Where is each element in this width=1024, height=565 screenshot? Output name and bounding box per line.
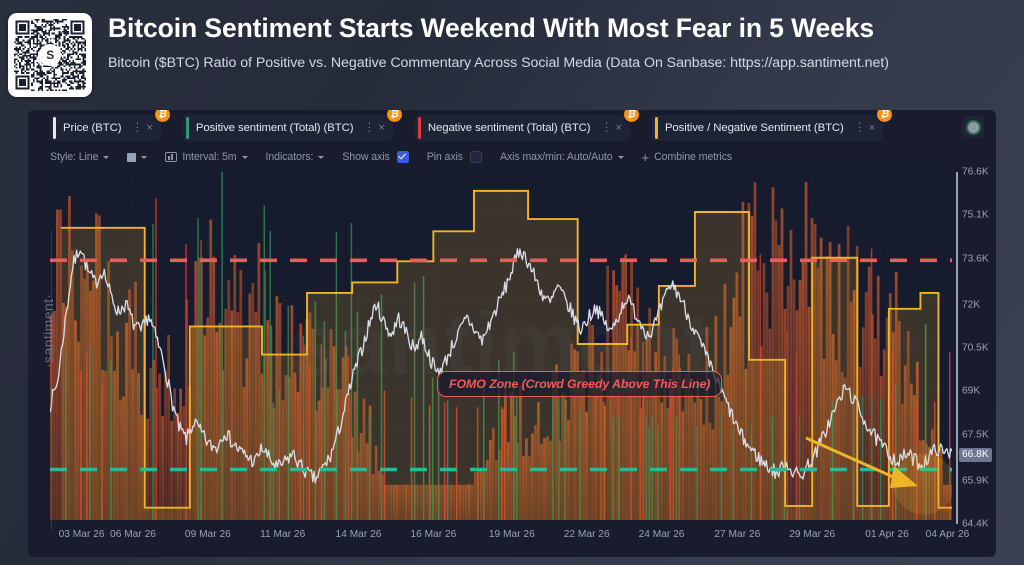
x-axis-tick: 16 Mar 26 bbox=[410, 529, 456, 540]
x-axis-tick: 09 Mar 26 bbox=[185, 529, 231, 540]
metric-color-bar bbox=[186, 117, 189, 139]
metric-tab-label: Price (BTC) bbox=[63, 122, 121, 134]
x-axis-tick: 11 Mar 26 bbox=[260, 529, 305, 540]
y-axis-tick: 70.5K bbox=[962, 343, 989, 354]
metric-tab-label: Positive sentiment (Total) (BTC) bbox=[196, 122, 354, 134]
x-axis-tick: 03 Mar 26 bbox=[59, 529, 105, 540]
bitcoin-icon: ₿ bbox=[624, 110, 639, 122]
interval-label: Interval: 5m bbox=[182, 151, 236, 163]
y-axis-tick: 75.1K bbox=[962, 210, 989, 221]
y-axis-tick: 65.9K bbox=[962, 475, 989, 486]
fomo-zone-annotation: FOMO Zone (Crowd Greedy Above This Line) bbox=[437, 371, 722, 397]
y-axis-tick: 76.6K bbox=[962, 167, 989, 178]
metric-tab-positive-sentiment[interactable]: Positive sentiment (Total) (BTC) ⋮ × ₿ bbox=[183, 115, 393, 141]
plot-canvas[interactable]: santiment bbox=[50, 168, 952, 520]
x-axis-tick: 29 Mar 26 bbox=[789, 529, 835, 540]
chart-controls-bar: Style: Line Interval: 5m Indicators: Sho… bbox=[28, 146, 996, 168]
axis-minmax-label: Axis max/min: Auto/Auto bbox=[500, 151, 613, 163]
y-axis-tick: 64.4K bbox=[962, 519, 989, 530]
metric-menu-icon[interactable]: ⋮ bbox=[131, 124, 137, 131]
recording-status-dot[interactable] bbox=[962, 116, 984, 138]
metric-tab-label: Negative sentiment (Total) (BTC) bbox=[428, 122, 591, 134]
combine-metrics-label: Combine metrics bbox=[654, 151, 732, 163]
bitcoin-icon: ₿ bbox=[155, 110, 170, 122]
page-subtitle: Bitcoin ($BTC) Ratio of Positive vs. Neg… bbox=[108, 55, 1010, 71]
x-axis-tick: 19 Mar 26 bbox=[489, 529, 535, 540]
x-axis-tick: 06 Mar 26 bbox=[110, 529, 156, 540]
qr-center-logo: S bbox=[39, 44, 61, 66]
style-dropdown[interactable]: Style: Line bbox=[50, 151, 109, 163]
metric-menu-icon[interactable]: ⋮ bbox=[363, 124, 369, 131]
show-axis-label: Show axis bbox=[342, 151, 389, 163]
color-picker-dropdown[interactable] bbox=[127, 153, 147, 162]
x-axis-tick: 04 Apr 26 bbox=[926, 529, 970, 540]
indicators-label: Indicators: bbox=[266, 151, 314, 163]
current-price-label: 66.8K bbox=[959, 448, 992, 462]
metric-tab-ratio[interactable]: Positive / Negative Sentiment (BTC) ⋮ × … bbox=[652, 115, 883, 141]
metric-tab-price[interactable]: Price (BTC) ⋮ × ₿ bbox=[50, 115, 161, 141]
x-axis: 03 Mar 2606 Mar 2609 Mar 2611 Mar 2614 M… bbox=[50, 520, 952, 550]
indicators-dropdown[interactable]: Indicators: bbox=[266, 151, 325, 163]
bitcoin-icon: ₿ bbox=[877, 110, 892, 122]
metric-color-bar bbox=[418, 117, 421, 139]
metric-color-bar bbox=[53, 117, 56, 139]
x-axis-tick: 24 Mar 26 bbox=[639, 529, 685, 540]
x-axis-tick: 27 Mar 26 bbox=[714, 529, 760, 540]
x-axis-tick: 22 Mar 26 bbox=[564, 529, 610, 540]
metric-tab-label: Positive / Negative Sentiment (BTC) bbox=[665, 122, 844, 134]
close-icon[interactable]: × bbox=[378, 122, 384, 134]
axis-minmax-dropdown[interactable]: Axis max/min: Auto/Auto bbox=[500, 151, 624, 163]
metric-tab-negative-sentiment[interactable]: Negative sentiment (Total) (BTC) ⋮ × ₿ bbox=[415, 115, 630, 141]
style-label: Style: Line bbox=[50, 151, 98, 163]
interval-dropdown[interactable]: Interval: 5m bbox=[165, 151, 247, 163]
pin-axis-toggle[interactable]: Pin axis bbox=[427, 151, 482, 163]
chevron-down-icon bbox=[103, 156, 109, 159]
y-axis-tick: 72K bbox=[962, 299, 980, 310]
status-dot-inner bbox=[968, 122, 979, 133]
combine-metrics-button[interactable]: + Combine metrics bbox=[642, 151, 733, 164]
close-icon[interactable]: × bbox=[869, 122, 875, 134]
page-title: Bitcoin Sentiment Starts Weekend With Mo… bbox=[108, 14, 1010, 44]
bitcoin-icon: ₿ bbox=[387, 110, 402, 122]
chevron-down-icon bbox=[618, 156, 624, 159]
chart-panel: Price (BTC) ⋮ × ₿ Positive sentiment (To… bbox=[28, 110, 996, 557]
metric-color-bar bbox=[655, 117, 658, 139]
chevron-down-icon bbox=[318, 156, 324, 159]
show-axis-toggle[interactable]: Show axis bbox=[342, 151, 408, 163]
screenshot-root: S Bitcoin Sentiment Starts Weekend With … bbox=[0, 0, 1024, 565]
x-axis-tick: 14 Mar 26 bbox=[336, 529, 382, 540]
y-axis[interactable]: 76.6K75.1K73.6K72K70.5K69K67.5K65.9K64.4… bbox=[956, 168, 996, 530]
chevron-down-icon bbox=[141, 156, 147, 159]
plus-icon: + bbox=[642, 151, 650, 164]
close-icon[interactable]: × bbox=[616, 122, 622, 134]
y-axis-line bbox=[956, 172, 958, 524]
x-axis-tick: 01 Apr 26 bbox=[865, 529, 909, 540]
y-axis-tick: 69K bbox=[962, 386, 980, 397]
bar-chart-icon bbox=[165, 152, 177, 162]
pin-axis-label: Pin axis bbox=[427, 151, 463, 163]
y-axis-tick: 67.5K bbox=[962, 429, 989, 440]
checkbox-checked-icon[interactable] bbox=[397, 151, 409, 163]
metric-menu-icon[interactable]: ⋮ bbox=[854, 124, 860, 131]
plot-area: santiment 76.6K75.1K73.6K72K70.5K69K67.5… bbox=[28, 168, 996, 557]
chevron-down-icon bbox=[242, 156, 248, 159]
title-block: Bitcoin Sentiment Starts Weekend With Mo… bbox=[92, 10, 1010, 71]
close-icon[interactable]: × bbox=[146, 122, 152, 134]
metric-tab-strip: Price (BTC) ⋮ × ₿ Positive sentiment (To… bbox=[28, 110, 996, 146]
metric-menu-icon[interactable]: ⋮ bbox=[601, 124, 607, 131]
header-banner: S Bitcoin Sentiment Starts Weekend With … bbox=[0, 0, 1024, 108]
chart-svg bbox=[50, 168, 952, 520]
qr-code-icon[interactable]: S bbox=[8, 13, 92, 97]
y-axis-tick: 73.6K bbox=[962, 253, 989, 264]
checkbox-unchecked-icon[interactable] bbox=[470, 151, 482, 163]
side-divider bbox=[51, 230, 52, 530]
color-swatch-icon bbox=[127, 153, 136, 162]
